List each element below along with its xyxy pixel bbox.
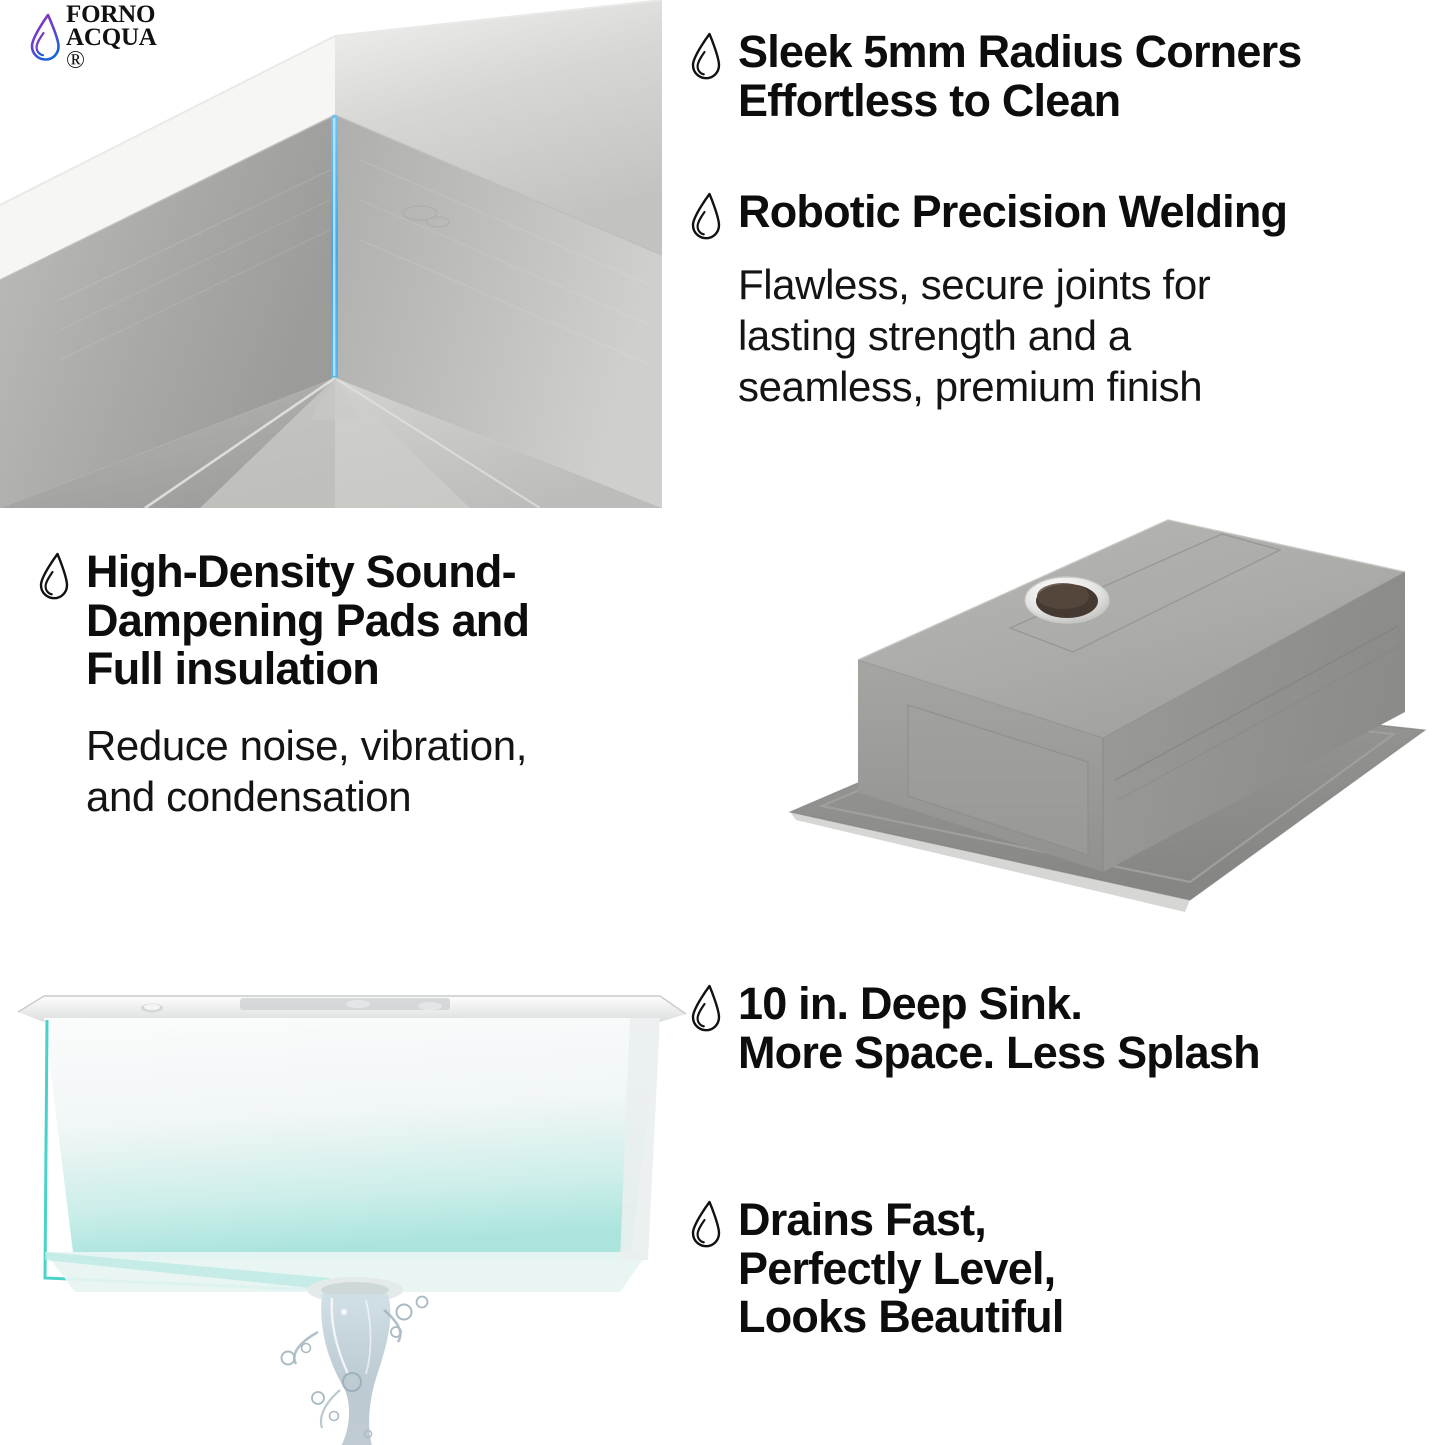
ghost-sink-illustration bbox=[0, 960, 700, 1445]
feature-title: Sleek 5mm Radius Corners Effortless to C… bbox=[738, 28, 1428, 125]
water-drop-icon bbox=[36, 552, 72, 600]
feature-title: High-Density Sound- Dampening Pads and F… bbox=[86, 548, 686, 694]
feature-title: 10 in. Deep Sink. More Space. Less Splas… bbox=[738, 980, 1418, 1077]
brand-logo: FORNO ACQUA® bbox=[28, 8, 188, 66]
feature-drains-fast: Drains Fast, Perfectly Level, Looks Beau… bbox=[688, 1196, 1388, 1342]
registered-mark: ® bbox=[66, 49, 157, 72]
feature-text-group: High-Density Sound- Dampening Pads and F… bbox=[86, 548, 686, 822]
feature-sleek-corners: Sleek 5mm Radius Corners Effortless to C… bbox=[688, 28, 1428, 125]
brand-line-2: ACQUA® bbox=[66, 26, 157, 72]
feature-text-group: 10 in. Deep Sink. More Space. Less Splas… bbox=[738, 980, 1418, 1077]
deck-ledge bbox=[240, 998, 450, 1010]
basin-translucent-wall bbox=[44, 1018, 660, 1260]
feature-text-group: Robotic Precision Welding Flawless, secu… bbox=[738, 188, 1408, 412]
feature-body: Reduce noise, vibration, and condensatio… bbox=[86, 720, 686, 822]
sink-cutaway-draining-photo bbox=[0, 960, 700, 1445]
logo-water-drop-icon bbox=[28, 13, 62, 61]
sink-underside-photo bbox=[770, 500, 1445, 930]
underside-illustration bbox=[770, 500, 1445, 930]
water-drop-icon bbox=[688, 192, 724, 240]
water-drop-icon bbox=[688, 1200, 724, 1248]
corner-illustration bbox=[0, 0, 662, 508]
infographic-page: FORNO ACQUA® bbox=[0, 0, 1445, 1445]
feature-body: Flawless, secure joints for lasting stre… bbox=[738, 259, 1408, 413]
brand-wordmark: FORNO ACQUA® bbox=[66, 3, 157, 72]
feature-title: Drains Fast, Perfectly Level, Looks Beau… bbox=[738, 1196, 1388, 1342]
water-drop-icon bbox=[688, 984, 724, 1032]
feature-sound-dampening: High-Density Sound- Dampening Pads and F… bbox=[36, 548, 686, 822]
feature-text-group: Sleek 5mm Radius Corners Effortless to C… bbox=[738, 28, 1428, 125]
water-drop-icon bbox=[688, 32, 724, 80]
feature-title: Robotic Precision Welding bbox=[738, 188, 1408, 237]
feature-deep-sink: 10 in. Deep Sink. More Space. Less Splas… bbox=[688, 980, 1418, 1077]
drain-opening bbox=[1025, 577, 1109, 623]
feature-text-group: Drains Fast, Perfectly Level, Looks Beau… bbox=[738, 1196, 1388, 1342]
brand-line-1: FORNO bbox=[66, 3, 157, 26]
feature-robotic-welding: Robotic Precision Welding Flawless, secu… bbox=[688, 188, 1408, 412]
sink-interior-corner-photo bbox=[0, 0, 662, 508]
